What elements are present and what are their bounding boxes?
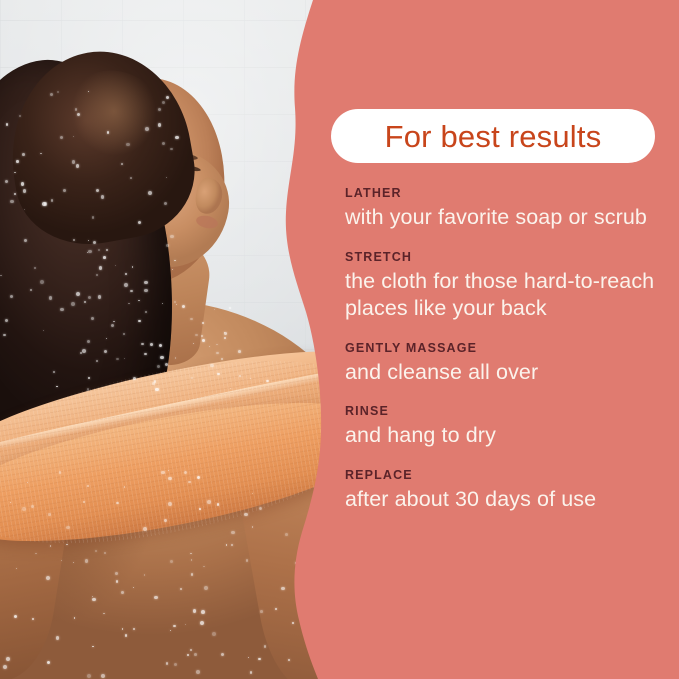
step-body: after about 30 days of use xyxy=(345,486,665,514)
page-title: For best results xyxy=(385,121,602,152)
step-body: and cleanse all over xyxy=(345,359,665,387)
step-body: with your favorite soap or scrub xyxy=(345,204,665,232)
step-label: STRETCH xyxy=(345,250,665,265)
step-replace: REPLACE after about 30 days of use xyxy=(345,468,665,514)
step-body: and hang to dry xyxy=(345,422,665,450)
product-instructions-card: For best results LATHER with your favori… xyxy=(0,0,679,679)
step-label: LATHER xyxy=(345,186,665,201)
step-label: RINSE xyxy=(345,404,665,419)
instructions-content: For best results LATHER with your favori… xyxy=(0,0,679,679)
steps-list: LATHER with your favorite soap or scrub … xyxy=(345,186,665,531)
step-lather: LATHER with your favorite soap or scrub xyxy=(345,186,665,232)
step-label: REPLACE xyxy=(345,468,665,483)
step-gently-massage: GENTLY MASSAGE and cleanse all over xyxy=(345,341,665,387)
step-label: GENTLY MASSAGE xyxy=(345,341,665,356)
step-stretch: STRETCH the cloth for those hard-to-reac… xyxy=(345,250,665,323)
title-pill: For best results xyxy=(331,109,655,163)
step-body: the cloth for those hard-to-reach places… xyxy=(345,268,665,323)
step-rinse: RINSE and hang to dry xyxy=(345,404,665,450)
